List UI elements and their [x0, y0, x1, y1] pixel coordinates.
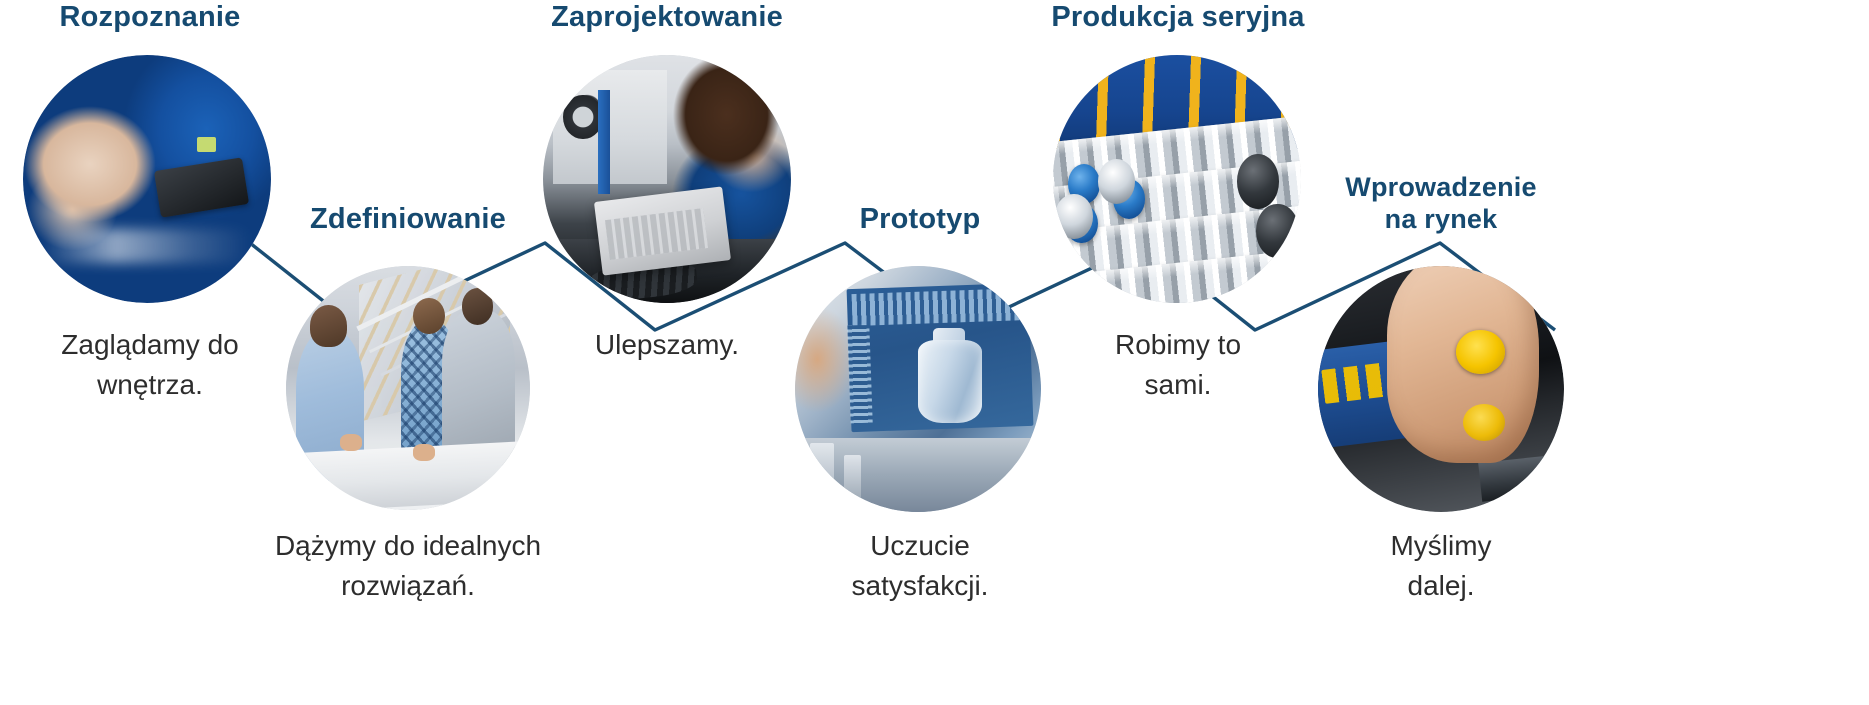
hd-sticker-upper — [1456, 330, 1505, 374]
step-caption-wprowadzenie-na-rynek: Myślimy dalej. — [1291, 526, 1591, 606]
cad-sidebar — [847, 325, 873, 424]
process-infographic: Rozpoznanie Zdefiniowanie Zaprojektowani… — [0, 0, 1869, 705]
step-image-wprowadzenie-na-rynek — [1318, 266, 1564, 512]
step-image-prototyp — [795, 266, 1041, 512]
step-image-produkcja-seryjna — [1053, 55, 1301, 303]
step-caption-rozpoznanie: Zaglądamy do wnętrza. — [0, 325, 300, 405]
hand-applying-hd-label-to-product-photo — [1318, 266, 1564, 512]
engineers-team-at-drafting-table-photo — [286, 266, 530, 510]
measuring-fixture-2 — [844, 455, 861, 499]
step-title-rozpoznanie: Rozpoznanie — [0, 0, 300, 34]
hand-left — [340, 434, 362, 451]
id-badge — [197, 137, 217, 152]
step-title-zaprojektowanie: Zaprojektowanie — [517, 0, 817, 34]
step-caption-zdefiniowanie: Dążymy do idealnych rozwiązań. — [258, 526, 558, 606]
shock-absorbers-production-line-photo — [1053, 55, 1301, 303]
cad-part-body — [918, 340, 982, 424]
step-caption-zaprojektowanie: Ulepszamy. — [517, 325, 817, 365]
step-image-zdefiniowanie — [286, 266, 530, 510]
tablet-device — [154, 157, 250, 217]
step-caption-prototyp: Uczucie satysfakcji. — [770, 526, 1070, 606]
mechanic-inspecting-car-with-tablet-photo — [23, 55, 271, 303]
step-title-produkcja-seryjna: Produkcja seryjna — [1028, 0, 1328, 34]
technician-with-laptop-over-engine-photo — [543, 55, 791, 303]
step-title-zdefiniowanie: Zdefiniowanie — [258, 202, 558, 236]
step-image-rozpoznanie — [23, 55, 271, 303]
step-title-prototyp: Prototyp — [770, 202, 1070, 236]
step-caption-produkcja-seryjna: Robimy to sami. — [1028, 325, 1328, 405]
step-title-wprowadzenie-na-rynek: Wprowadzenie na rynek — [1291, 172, 1591, 236]
cad-workstation-prototype-part-photo — [795, 266, 1041, 512]
measuring-fixture-1 — [810, 443, 835, 497]
car-lift-post — [598, 90, 610, 194]
step-image-zaprojektowanie — [543, 55, 791, 303]
person-center-head — [413, 298, 445, 335]
chrome-ring-1 — [1098, 159, 1135, 204]
windshield-glare — [43, 229, 251, 264]
hand-right — [413, 444, 435, 461]
dark-end-cap-1 — [1237, 154, 1279, 209]
wheel — [563, 95, 603, 140]
person-right-head — [462, 288, 494, 325]
cad-toolbar — [851, 288, 1029, 326]
person-left-head — [310, 305, 347, 346]
hd-sticker-lower — [1463, 404, 1505, 441]
